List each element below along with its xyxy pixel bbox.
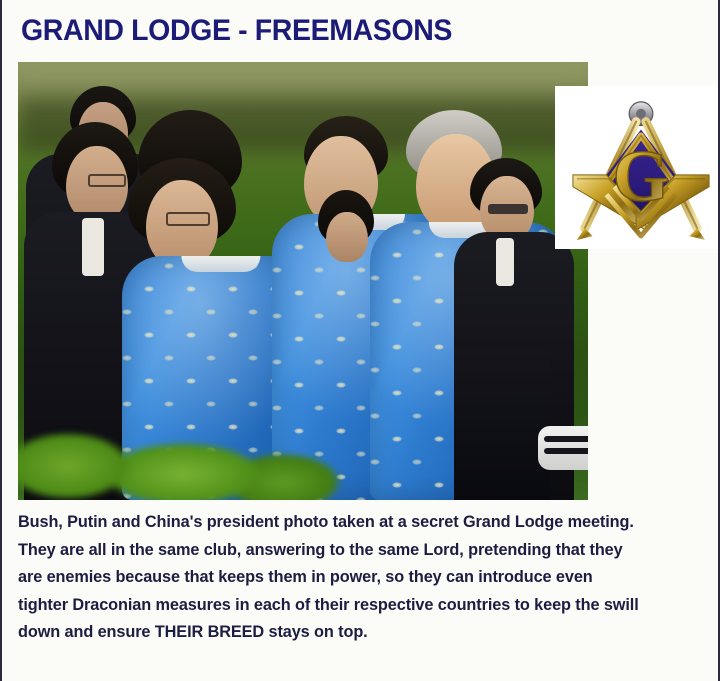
caption-line: They are all in the same club, answering… bbox=[18, 537, 708, 565]
caption-line: are enemies because that keeps them in p… bbox=[18, 564, 708, 592]
meme-page: GRAND LODGE - FREEMASONS bbox=[0, 0, 720, 681]
photo-container bbox=[18, 62, 588, 500]
trousers bbox=[454, 350, 550, 500]
caption-line: tighter Draconian measures in each of th… bbox=[18, 592, 708, 620]
page-title: GRAND LODGE - FREEMASONS bbox=[21, 14, 452, 48]
foreground-foliage bbox=[18, 396, 368, 500]
caption-line: down and ensure THEIR BREED stays on top… bbox=[18, 619, 708, 647]
masonic-logo-plate: G bbox=[555, 86, 720, 249]
photo-image bbox=[18, 62, 588, 500]
shoe bbox=[538, 426, 588, 470]
square-and-compasses-icon: G bbox=[567, 92, 715, 244]
caption-block: Bush, Putin and China's president photo … bbox=[18, 509, 708, 647]
logo-letter-g: G bbox=[613, 136, 670, 217]
eyeglasses-icon bbox=[88, 174, 126, 187]
robe-collar bbox=[181, 256, 260, 272]
eyeglasses-icon bbox=[166, 212, 210, 226]
sunglasses-icon bbox=[488, 204, 528, 214]
caption-line: Bush, Putin and China's president photo … bbox=[18, 509, 708, 537]
